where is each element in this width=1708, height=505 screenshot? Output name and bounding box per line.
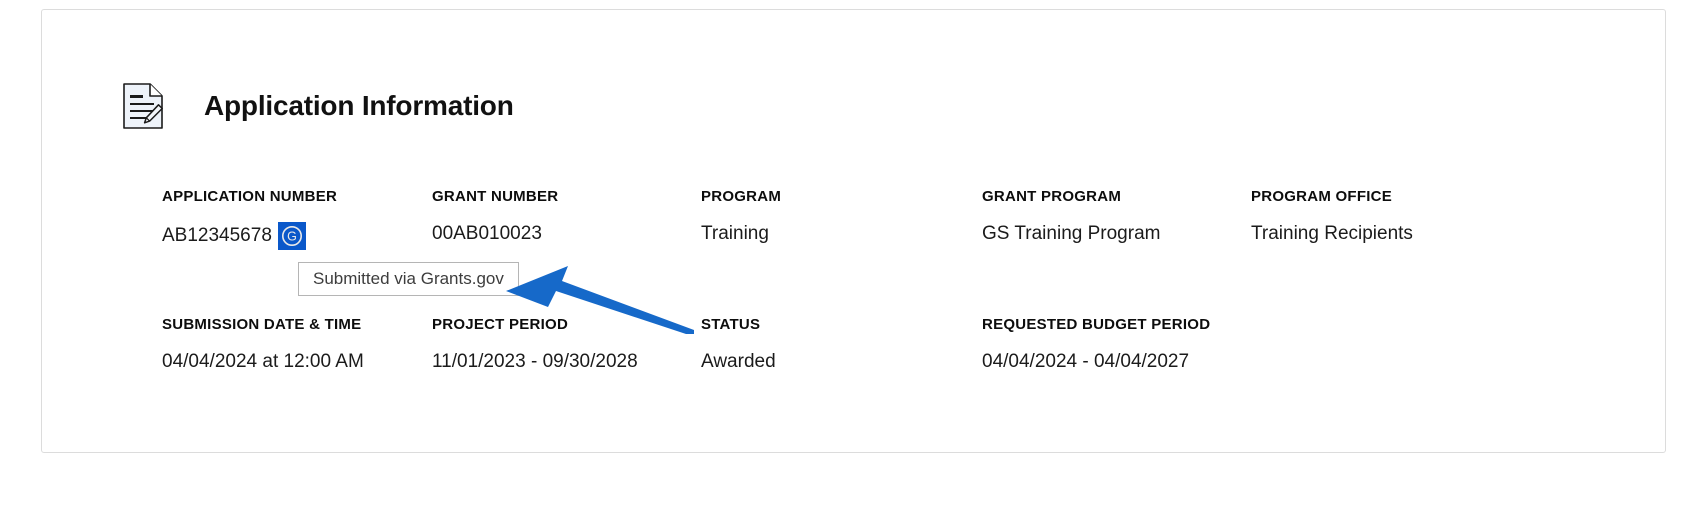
card-header: Application Information	[122, 82, 514, 130]
field-row-primary: APPLICATION NUMBER AB12345678 G GRANT NU…	[42, 188, 1665, 258]
field-label: STATUS	[701, 316, 776, 334]
field-label: GRANT NUMBER	[432, 188, 558, 206]
svg-text:G: G	[287, 229, 297, 243]
field-value: 00AB010023	[432, 222, 558, 246]
field-label: PROGRAM OFFICE	[1251, 188, 1413, 206]
field-label: REQUESTED BUDGET PERIOD	[982, 316, 1210, 334]
field-status: STATUS Awarded	[701, 316, 776, 374]
page-title: Application Information	[204, 90, 514, 122]
field-value: 04/04/2024 at 12:00 AM	[162, 350, 364, 374]
application-number-text: AB12345678	[162, 224, 272, 248]
field-program: PROGRAM Training	[701, 188, 781, 246]
application-information-card: Application Information APPLICATION NUMB…	[41, 9, 1666, 453]
field-project-period: PROJECT PERIOD 11/01/2023 - 09/30/2028	[432, 316, 638, 374]
field-label: PROJECT PERIOD	[432, 316, 638, 334]
field-grant-program: GRANT PROGRAM GS Training Program	[982, 188, 1160, 246]
field-value: Training Recipients	[1251, 222, 1413, 246]
circled-g-icon[interactable]: G	[278, 222, 306, 250]
field-value: 11/01/2023 - 09/30/2028	[432, 350, 638, 374]
document-edit-icon	[122, 82, 164, 130]
field-value: GS Training Program	[982, 222, 1160, 246]
field-grant-number: GRANT NUMBER 00AB010023	[432, 188, 558, 246]
grants-gov-tooltip: Submitted via Grants.gov	[298, 262, 519, 296]
field-requested-budget-period: REQUESTED BUDGET PERIOD 04/04/2024 - 04/…	[982, 316, 1210, 374]
field-submission-date-time: SUBMISSION DATE & TIME 04/04/2024 at 12:…	[162, 316, 364, 374]
field-row-secondary: SUBMISSION DATE & TIME 04/04/2024 at 12:…	[42, 316, 1665, 386]
field-label: SUBMISSION DATE & TIME	[162, 316, 364, 334]
field-label: PROGRAM	[701, 188, 781, 206]
field-application-number: APPLICATION NUMBER AB12345678 G	[162, 188, 337, 250]
field-label: GRANT PROGRAM	[982, 188, 1160, 206]
field-value: 04/04/2024 - 04/04/2027	[982, 350, 1210, 374]
application-number-value: AB12345678 G	[162, 222, 306, 250]
field-value: Training	[701, 222, 781, 246]
tooltip-text: Submitted via Grants.gov	[313, 269, 504, 289]
field-program-office: PROGRAM OFFICE Training Recipients	[1251, 188, 1413, 246]
status-badge: Awarded	[701, 350, 776, 374]
field-value-wrapper: AB12345678 G	[162, 222, 337, 250]
field-label: APPLICATION NUMBER	[162, 188, 337, 206]
